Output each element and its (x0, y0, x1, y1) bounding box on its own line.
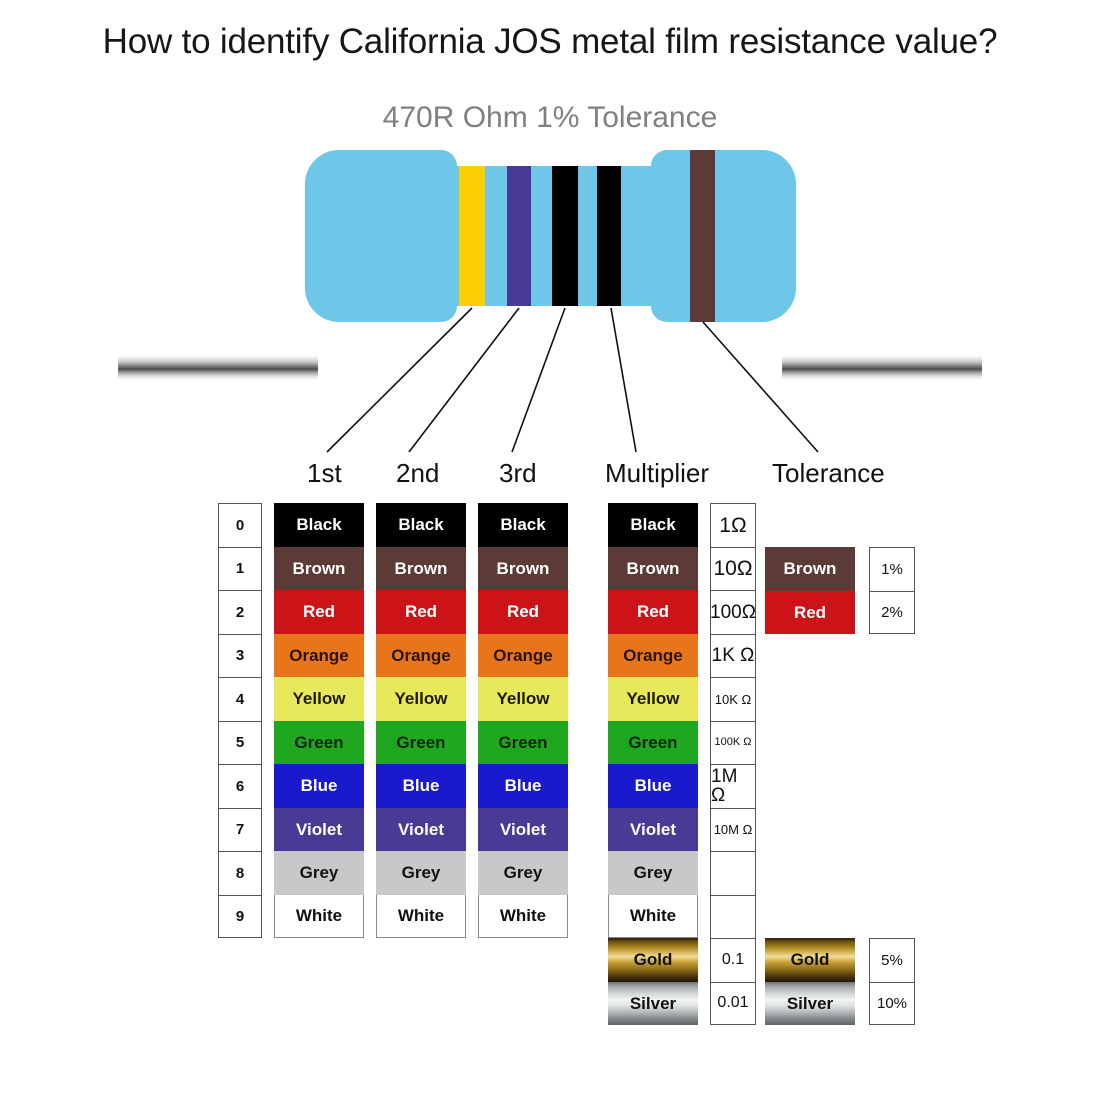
multiplier-value-cell (710, 851, 756, 895)
color-cell-white: White (478, 895, 568, 939)
color-cell-blue: Blue (274, 764, 364, 808)
tolerance-value-cell: 2% (869, 591, 915, 635)
color-cell-brown: Brown (274, 547, 364, 591)
multiplier-color-column: BlackBrownRedOrangeYellowGreenBlueViolet… (608, 503, 698, 1025)
digit-cell: 4 (218, 677, 262, 721)
digit-cell: 7 (218, 808, 262, 852)
digit-cell: 2 (218, 590, 262, 634)
color-cell-red: Red (376, 590, 466, 634)
color-cell-yellow: Yellow (274, 677, 364, 721)
tolerance-value-column: 1%2% (869, 547, 915, 634)
digit-cell: 5 (218, 721, 262, 765)
multiplier-color-cell-orange: Orange (608, 634, 698, 678)
multiplier-color-cell-violet: Violet (608, 808, 698, 852)
color-cell-red: Red (478, 590, 568, 634)
color-cell-orange: Orange (376, 634, 466, 678)
tolerance-color-cell-gold: Gold (765, 938, 855, 982)
multiplier-value-cell: 100K Ω (710, 721, 756, 765)
multiplier-color-cell-red: Red (608, 590, 698, 634)
multiplier-value-column: 1Ω10Ω100Ω1K Ω10K Ω100K Ω1M Ω10M Ω0.10.01 (710, 503, 756, 1025)
color-cell-blue: Blue (376, 764, 466, 808)
multiplier-value-cell: 100Ω (710, 590, 756, 634)
color-cell-brown: Brown (478, 547, 568, 591)
color-cell-yellow: Yellow (478, 677, 568, 721)
multiplier-color-cell-grey: Grey (608, 851, 698, 895)
color-cell-black: Black (478, 503, 568, 547)
tolerance-color-cell-silver: Silver (765, 982, 855, 1026)
tolerance-color-column: BrownRed (765, 547, 855, 634)
tolerance-value-cell: 10% (869, 982, 915, 1026)
color-cell-red: Red (274, 590, 364, 634)
color-cell-green: Green (478, 721, 568, 765)
tolerance-metal-color-column: GoldSilver (765, 938, 855, 1025)
digit-cell: 0 (218, 503, 262, 547)
color-cell-violet: Violet (478, 808, 568, 852)
first-digit-column: BlackBrownRedOrangeYellowGreenBlueViolet… (274, 503, 364, 938)
color-cell-orange: Orange (478, 634, 568, 678)
color-cell-white: White (274, 895, 364, 939)
third-digit-column: BlackBrownRedOrangeYellowGreenBlueViolet… (478, 503, 568, 938)
multiplier-value-cell: 10Ω (710, 547, 756, 591)
digit-cell: 3 (218, 634, 262, 678)
color-cell-white: White (376, 895, 466, 939)
tolerance-value-cell: 5% (869, 938, 915, 982)
multiplier-value-cell (710, 895, 756, 939)
color-cell-black: Black (274, 503, 364, 547)
color-cell-grey: Grey (478, 851, 568, 895)
multiplier-value-cell: 0.1 (710, 938, 756, 982)
multiplier-value-cell: 1Ω (710, 503, 756, 547)
tolerance-metal-value-column: 5%10% (869, 938, 915, 1025)
color-cell-orange: Orange (274, 634, 364, 678)
color-cell-black: Black (376, 503, 466, 547)
multiplier-color-cell-white: White (608, 895, 698, 939)
color-cell-green: Green (274, 721, 364, 765)
multiplier-value-cell: 0.01 (710, 982, 756, 1026)
multiplier-color-cell-green: Green (608, 721, 698, 765)
digit-cell: 1 (218, 547, 262, 591)
digit-cell: 8 (218, 851, 262, 895)
color-cell-brown: Brown (376, 547, 466, 591)
tolerance-color-cell-brown: Brown (765, 547, 855, 591)
digit-index-column: 0123456789 (218, 503, 262, 938)
multiplier-color-cell-gold: Gold (608, 938, 698, 982)
multiplier-value-cell: 10K Ω (710, 677, 756, 721)
color-cell-violet: Violet (274, 808, 364, 852)
multiplier-color-cell-silver: Silver (608, 982, 698, 1026)
color-cell-grey: Grey (376, 851, 466, 895)
digit-cell: 6 (218, 764, 262, 808)
multiplier-value-cell: 1M Ω (710, 764, 756, 808)
color-cell-green: Green (376, 721, 466, 765)
color-cell-grey: Grey (274, 851, 364, 895)
multiplier-color-cell-black: Black (608, 503, 698, 547)
multiplier-value-cell: 10M Ω (710, 808, 756, 852)
second-digit-column: BlackBrownRedOrangeYellowGreenBlueViolet… (376, 503, 466, 938)
multiplier-color-cell-brown: Brown (608, 547, 698, 591)
color-cell-violet: Violet (376, 808, 466, 852)
tolerance-value-cell: 1% (869, 547, 915, 591)
multiplier-color-cell-yellow: Yellow (608, 677, 698, 721)
color-cell-blue: Blue (478, 764, 568, 808)
digit-cell: 9 (218, 895, 262, 939)
multiplier-value-cell: 1K Ω (710, 634, 756, 678)
multiplier-color-cell-blue: Blue (608, 764, 698, 808)
color-cell-yellow: Yellow (376, 677, 466, 721)
tolerance-color-cell-red: Red (765, 591, 855, 635)
